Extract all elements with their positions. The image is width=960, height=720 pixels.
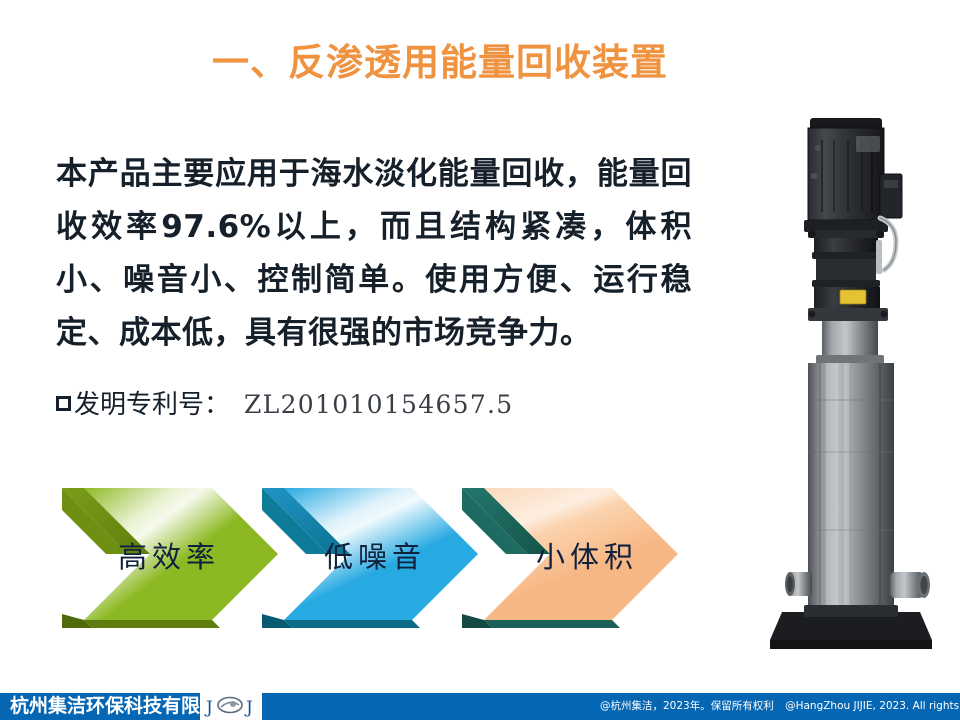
footer-copyright-cn: @杭州集洁，2023年。保留所有权利: [600, 700, 774, 712]
body-paragraph: 本产品主要应用于海水淡化能量回收，能量回收效率97.6%以上，而且结构紧凑，体积…: [56, 148, 692, 360]
svg-text:J: J: [244, 698, 253, 718]
company-logo: J J: [200, 692, 262, 720]
slide-title: 一、反渗透用能量回收装置: [0, 32, 880, 86]
chevron-small-volume: 小体积: [462, 482, 710, 628]
footer-copyright: @杭州集洁，2023年。保留所有权利 @HangZhou JIJIE, 2023…: [600, 695, 960, 717]
square-bullet-icon: [56, 396, 71, 411]
patent-label: 发明专利号：: [74, 384, 230, 421]
chevron-label: 小体积: [536, 534, 638, 576]
svg-text:J: J: [204, 698, 213, 718]
chevron-label: 低噪音: [324, 534, 426, 576]
presentation-slide: 一、反渗透用能量回收装置 本产品主要应用于海水淡化能量回收，能量回收效率97.6…: [0, 0, 960, 720]
patent-number: ZL201010154657.5: [244, 390, 514, 419]
footer-copyright-en: @HangZhou JIJIE, 2023. All rights reserv…: [785, 700, 960, 712]
chevron-label: 高效率: [118, 534, 220, 576]
product-photo-energy-recovery-pump: [752, 100, 960, 660]
patent-line: 发明专利号： ZL201010154657.5: [56, 384, 514, 421]
